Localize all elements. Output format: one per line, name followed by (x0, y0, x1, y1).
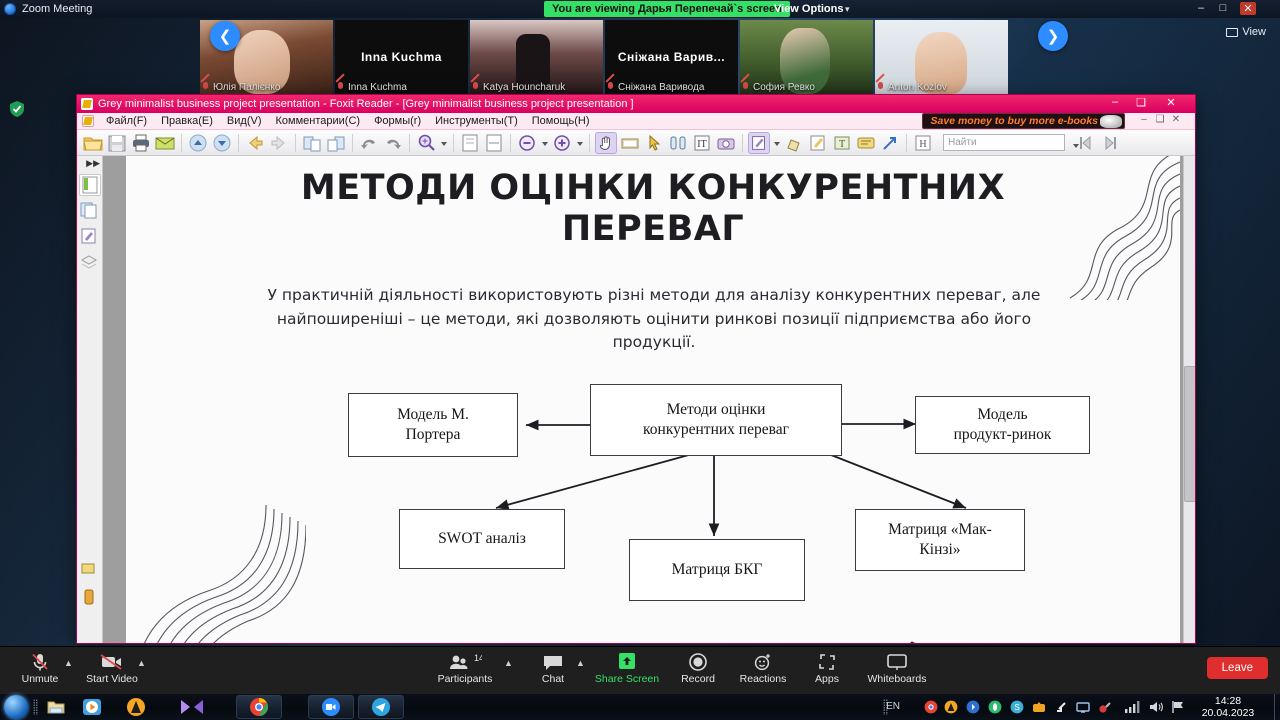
zoom-out-icon[interactable] (516, 132, 538, 154)
menu-help[interactable]: Помощь(H) (525, 114, 597, 128)
zoom-window-title: Zoom Meeting (22, 3, 92, 15)
product-market-line2: продукт-ринок (954, 426, 1052, 443)
muted-mic-icon (472, 82, 480, 93)
next-page-icon[interactable] (211, 132, 233, 154)
screen-share-banner: You are viewing Дарья Перепечай`s screen (544, 1, 790, 17)
start-video-button[interactable]: Start Video (76, 652, 148, 685)
reactions-button[interactable]: Reactions (727, 652, 799, 685)
participant-tile[interactable]: Inna Kuchma Inna Kuchma (335, 20, 468, 94)
toolbar-separator (589, 134, 590, 152)
product-market-line1: Модель (977, 406, 1027, 423)
view-options-button[interactable]: View Options (768, 1, 849, 17)
text-box-icon[interactable]: T (831, 132, 853, 154)
svg-text:H: H (919, 139, 926, 150)
view-button-label: View (1242, 26, 1266, 38)
navigation-rail: ▶▶ (77, 156, 103, 644)
language-indicator[interactable]: EN (886, 701, 900, 712)
mute-button-label: Unmute (4, 673, 76, 685)
diagram-box-porter-model: Модель М.Портера (348, 393, 518, 457)
fit-page-icon[interactable] (459, 132, 481, 154)
layers-panel-icon[interactable] (79, 252, 101, 274)
arrow-annotation-icon[interactable] (879, 132, 901, 154)
zoom-in-caret-icon[interactable] (574, 132, 585, 154)
tray-avast-icon[interactable] (944, 700, 958, 714)
signal-strength-icon[interactable] (1124, 700, 1138, 714)
hand-tool-icon[interactable] (595, 132, 617, 154)
collapse-panel-icon[interactable]: ▶▶ (86, 158, 100, 169)
bookmarks-panel-icon[interactable] (79, 174, 101, 196)
minimize-button[interactable]: – (1193, 2, 1209, 14)
zoom-titlebar: Zoom Meeting You are viewing Дарья Переп… (0, 0, 1280, 18)
share-screen-label: Share Screen (591, 673, 663, 685)
foxit-close-button[interactable]: ✕ (1161, 96, 1181, 109)
toolbar-separator (409, 134, 410, 152)
tray-bluetooth-icon[interactable] (966, 700, 980, 714)
chat-button[interactable]: Chat (517, 652, 589, 685)
clock-date: 20.04.2023 (1182, 707, 1274, 719)
search-input[interactable]: Найти (943, 134, 1065, 151)
zoom-meeting-window: Zoom Meeting You are viewing Дарья Переп… (0, 0, 1280, 720)
snapshot-icon[interactable] (619, 132, 641, 154)
note-comment-icon[interactable] (855, 132, 877, 154)
foxit-app-icon (81, 98, 93, 110)
participants-icon: 14 (429, 652, 501, 671)
grid-view-icon (1226, 28, 1238, 37)
menu-comments[interactable]: Комментарии(C) (269, 114, 368, 128)
foxit-document-area: ▶▶ (77, 156, 1196, 644)
annotation-caret-icon[interactable] (771, 132, 782, 154)
tray-shield-icon[interactable] (988, 700, 1002, 714)
participants-label: Participants (429, 673, 501, 685)
rotate-right-icon[interactable] (325, 132, 347, 154)
telegram-icon[interactable] (371, 697, 391, 717)
share-screen-icon (591, 652, 663, 671)
file-explorer-icon[interactable] (46, 697, 66, 717)
forward-arrow-icon[interactable] (268, 132, 290, 154)
apps-label: Apps (791, 673, 863, 685)
center-line2: конкурентних переваг (643, 421, 789, 438)
apps-icon (791, 652, 863, 671)
taskbar-gripper[interactable] (33, 699, 38, 715)
toolbar-separator (352, 134, 353, 152)
chat-label: Chat (517, 673, 589, 685)
kmplayer-icon[interactable] (180, 697, 200, 717)
menu-edit[interactable]: Правка(E) (154, 114, 220, 128)
participants-options-caret-icon[interactable]: ▲ (504, 658, 513, 668)
pencil-icon[interactable] (807, 132, 829, 154)
pages-panel-icon[interactable] (79, 200, 101, 222)
zoom-taskbar-icon[interactable] (321, 697, 341, 717)
video-options-caret-icon[interactable]: ▲ (137, 658, 146, 668)
participant-tile[interactable]: Katya Houncharuk (470, 20, 603, 94)
find-next-icon[interactable] (1099, 134, 1119, 152)
muted-mic-icon (607, 82, 615, 93)
tray-network-tools-icon[interactable] (1098, 700, 1112, 714)
zoom-out-caret-icon[interactable] (539, 132, 550, 154)
maximize-button[interactable]: □ (1215, 2, 1231, 14)
find-previous-icon[interactable] (1077, 134, 1097, 152)
undo-icon[interactable] (358, 132, 380, 154)
toolbar-separator (238, 134, 239, 152)
foxit-restore-button[interactable]: ❑ (1131, 96, 1151, 109)
participant-name-label: Сніжана Варивода (607, 82, 704, 93)
page-scrollbar-track[interactable] (1183, 156, 1196, 644)
toolbar-separator (181, 134, 182, 152)
participant-name-label: Katya Houncharuk (472, 82, 565, 93)
zoom-in-icon[interactable] (551, 132, 573, 154)
clock[interactable]: 14:28 20.04.2023 (1182, 695, 1274, 719)
back-arrow-icon[interactable] (244, 132, 266, 154)
diagram-box-product-market-model: Модельпродукт-ринок (915, 396, 1090, 454)
diagram-box-mckinsey-matrix: Матриця «Мак-Кінзі» (855, 509, 1025, 571)
stamp-icon[interactable]: H (912, 132, 934, 154)
muted-mic-icon (337, 82, 345, 93)
muted-mic-icon (877, 82, 885, 93)
mckinsey-line1: Матриця «Мак- (888, 521, 992, 538)
camera-icon[interactable] (715, 132, 737, 154)
foxit-toolbar: IT T H Найти (77, 130, 1195, 156)
edit-annotation-icon[interactable] (748, 132, 770, 154)
diagram-box-center: Методи оцінкиконкурентних переваг (590, 384, 842, 456)
participant-name-label: Юлія Палієнко (202, 82, 280, 93)
menu-forms[interactable]: Формы(r) (367, 114, 428, 128)
whiteboards-label: Whiteboards (861, 673, 933, 685)
participant-name-label: Anton Kozlov (877, 82, 947, 93)
windows-taskbar: EN S 14:28 20.04.2023 (0, 694, 1280, 720)
reactions-label: Reactions (727, 673, 799, 685)
filmstrip-next-button[interactable]: ❯ (1038, 21, 1068, 51)
share-screen-button[interactable]: Share Screen (591, 652, 663, 685)
encryption-shield-icon (8, 100, 26, 118)
diagram-box-bcg-matrix: Матриця БКГ (629, 539, 805, 601)
save-icon[interactable] (106, 132, 128, 154)
foxit-menubar: Файл(F) Правка(E) Вид(V) Комментарии(C) … (77, 113, 1195, 130)
menu-tools[interactable]: Инструменты(T) (428, 114, 525, 128)
center-line1: Методи оцінки (667, 401, 766, 418)
foxit-window-title: Grey minimalist business project present… (98, 98, 634, 110)
ad-restore-button[interactable]: ❑ (1153, 114, 1167, 125)
open-file-icon[interactable] (82, 132, 104, 154)
tray-skype-icon[interactable]: S (1010, 700, 1024, 714)
participant-name-label: София Ревко (742, 82, 815, 93)
start-button-icon[interactable] (4, 695, 28, 719)
avast-icon[interactable] (126, 697, 146, 717)
tray-download-icon[interactable] (1054, 700, 1068, 714)
menu-file[interactable]: Файл(F) (99, 114, 154, 128)
svg-text:T: T (839, 139, 845, 150)
svg-text:14: 14 (474, 653, 482, 663)
media-player-icon[interactable] (82, 697, 102, 717)
participants-button[interactable]: 14 Participants (429, 652, 501, 685)
svg-text:S: S (1014, 703, 1019, 712)
text-viewer-icon[interactable]: IT (691, 132, 713, 154)
previous-page-icon[interactable] (187, 132, 209, 154)
participant-tile[interactable]: София Ревко (740, 20, 873, 94)
select-tool-icon[interactable] (643, 132, 665, 154)
chat-options-caret-icon[interactable]: ▲ (576, 658, 585, 668)
attachments-panel-icon[interactable] (79, 559, 101, 581)
view-layout-button[interactable]: View (1226, 26, 1266, 38)
binoculars-icon[interactable] (667, 132, 689, 154)
foxit-reader-window: Grey minimalist business project present… (76, 94, 1196, 644)
redo-icon[interactable] (382, 132, 404, 154)
foxit-titlebar: Grey minimalist business project present… (77, 95, 1195, 113)
fit-width-icon[interactable] (483, 132, 505, 154)
leave-meeting-button[interactable]: Leave (1207, 657, 1268, 679)
participant-name-label: Inna Kuchma (337, 82, 407, 93)
ad-minimize-button[interactable]: – (1137, 114, 1151, 125)
diagram-box-swot: SWOT аналіз (399, 509, 565, 569)
zoom-dropdown-caret-icon[interactable] (438, 132, 449, 154)
svg-text:IT: IT (697, 139, 706, 150)
apps-button[interactable]: Apps (791, 652, 863, 685)
email-icon[interactable] (154, 132, 176, 154)
page-scrollbar-thumb[interactable] (1184, 366, 1196, 502)
menu-view[interactable]: Вид(V) (220, 114, 269, 128)
audio-options-caret-icon[interactable]: ▲ (64, 658, 73, 668)
ad-banner[interactable]: Save money to buy more e-books (922, 113, 1125, 129)
signature-panel-icon[interactable] (79, 587, 101, 609)
participant-filmstrip: Юлія Палієнко Inna Kuchma Inna Kuchma Ka… (200, 20, 1025, 94)
record-button[interactable]: Record (662, 652, 734, 685)
show-desktop-button[interactable] (1274, 694, 1280, 720)
zoom-control-bar: Unmute ▲ Start Video ▲ 14 Participants ▲… (0, 646, 1280, 694)
muted-mic-icon (742, 82, 750, 93)
toolbar-separator (453, 134, 454, 152)
tray-display-icon[interactable] (1076, 700, 1090, 714)
foxit-minimize-button[interactable]: – (1105, 96, 1125, 108)
whiteboards-button[interactable]: Whiteboards (861, 652, 933, 685)
toolbar-separator (906, 134, 907, 152)
highlighter-icon[interactable] (783, 132, 805, 154)
reactions-icon (727, 652, 799, 671)
participant-tile[interactable]: Anton Kozlov (875, 20, 1008, 94)
tray-update-icon[interactable] (1032, 700, 1046, 714)
print-icon[interactable] (130, 132, 152, 154)
mouse-cursor-hand-icon (905, 640, 919, 644)
pdf-page[interactable]: МЕТОДИ ОЦІНКИ КОНКУРЕНТНИХ ПЕРЕВАГ У пра… (126, 156, 1180, 644)
chrome-icon[interactable] (249, 697, 269, 717)
mckinsey-line2: Кінзі» (919, 541, 960, 558)
participant-tile[interactable]: Сніжана Варив... Сніжана Варивода (605, 20, 738, 94)
porter-line2: Портера (406, 426, 461, 443)
toolbar-separator (295, 134, 296, 152)
whiteboard-icon (861, 652, 933, 671)
start-video-label: Start Video (76, 673, 148, 685)
clock-time: 14:28 (1182, 695, 1274, 707)
record-icon (662, 652, 734, 671)
ad-close-button[interactable]: ✕ (1169, 114, 1183, 125)
porter-line1: Модель М. (397, 406, 469, 423)
rotate-left-icon[interactable] (301, 132, 323, 154)
record-label: Record (662, 673, 734, 685)
zoom-app-icon (4, 3, 16, 15)
muted-mic-icon (202, 82, 210, 93)
zoom-tool-icon[interactable] (415, 132, 437, 154)
close-button[interactable]: ✕ (1240, 2, 1256, 15)
document-icon (82, 115, 94, 127)
toolbar-separator (742, 134, 743, 152)
comments-panel-icon[interactable] (79, 226, 101, 248)
volume-icon[interactable] (1148, 700, 1162, 714)
filmstrip-prev-button[interactable]: ❮ (210, 21, 240, 51)
toolbar-separator (510, 134, 511, 152)
mute-button[interactable]: Unmute (4, 652, 76, 685)
chevron-down-icon[interactable]: ▾ (845, 4, 850, 15)
tray-chrome-icon[interactable] (924, 700, 938, 714)
